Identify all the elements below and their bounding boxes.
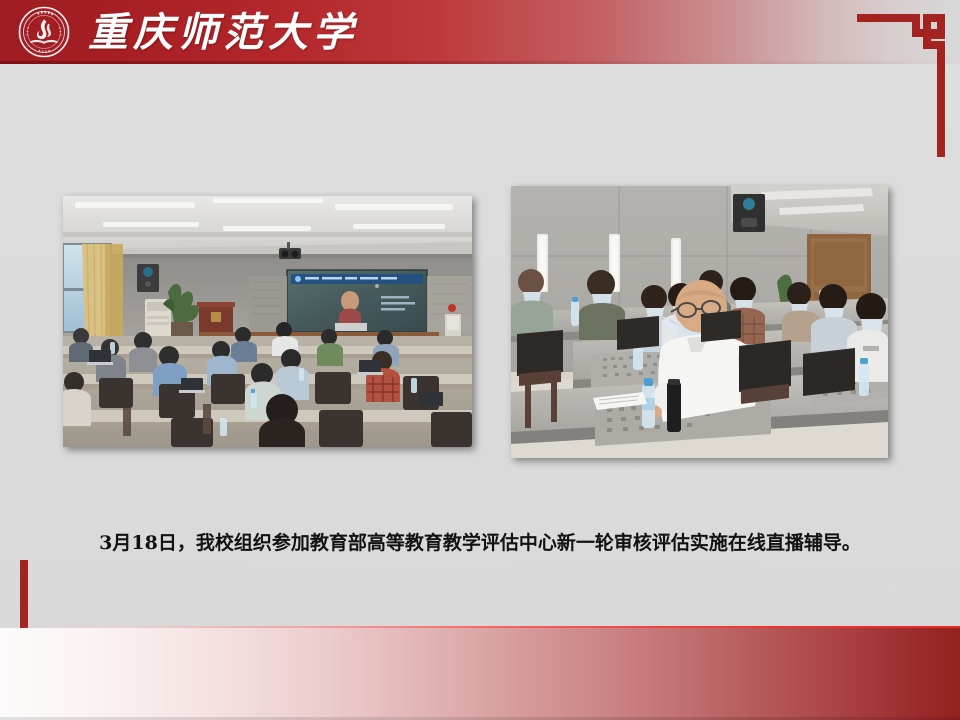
university-name-title: 重庆师范大学 [88, 5, 358, 60]
header-banner: 重庆师范大学 [0, 0, 960, 64]
photo-lecture-hall-wide [63, 196, 472, 447]
presentation-slide: 重庆师范大学 [0, 0, 960, 720]
chinese-key-pattern-corner-top-right-icon [857, 5, 953, 157]
university-seal-icon [18, 6, 70, 58]
photo-attendees-masked [511, 186, 888, 458]
slide-caption: 3月18日，我校组织参加教育部高等教育教学评估中心新一轮审核评估实施在线直播辅导… [0, 528, 960, 555]
footer-gradient-band [0, 628, 960, 720]
